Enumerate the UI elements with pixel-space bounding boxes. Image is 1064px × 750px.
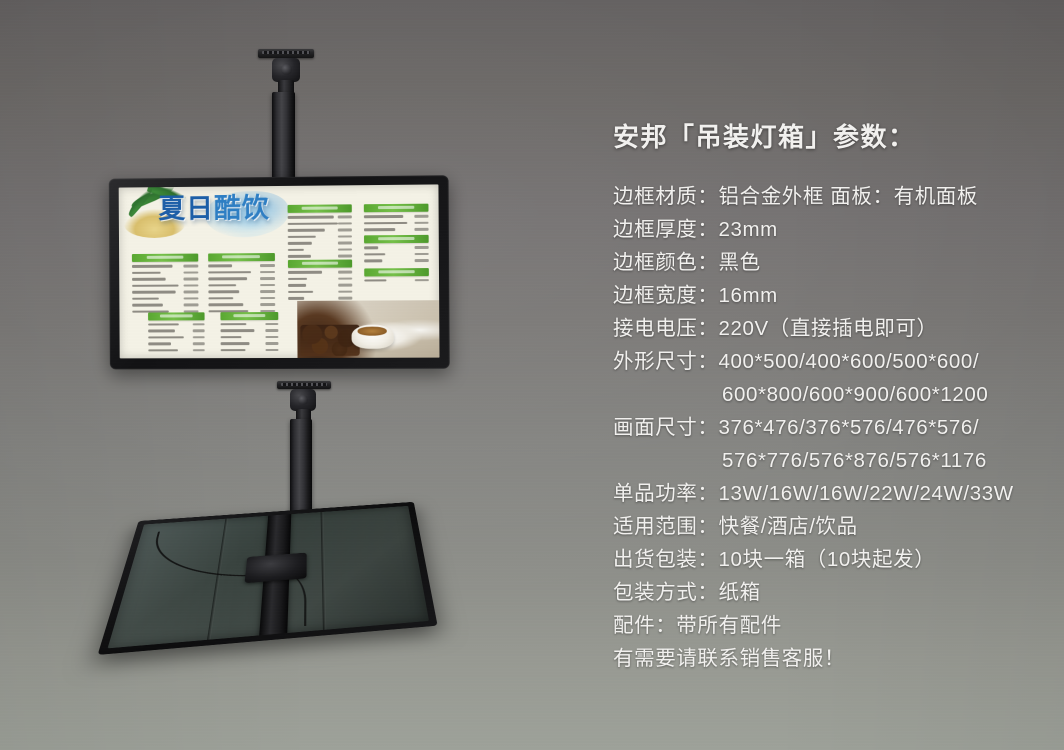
menu-section-rows xyxy=(287,214,351,259)
menu-section xyxy=(132,254,199,316)
menu-item-row xyxy=(221,348,278,353)
menu-item-row xyxy=(132,283,199,288)
menu-section-rows xyxy=(364,245,429,264)
menu-item-row xyxy=(132,264,199,269)
menu-section-rows xyxy=(148,322,205,353)
menu-item-row xyxy=(365,278,430,283)
menu-section-rows xyxy=(132,264,199,315)
menu-section-rows xyxy=(208,263,275,314)
menu-section-header xyxy=(365,268,430,276)
menu-item-row xyxy=(208,289,275,294)
menu-item-row xyxy=(148,341,205,346)
menu-section-header xyxy=(208,253,275,261)
menu-item-row xyxy=(288,269,352,274)
menu-item-row xyxy=(287,214,351,220)
menu-item-row xyxy=(132,277,199,282)
menu-item-row xyxy=(221,322,278,327)
menu-item-row xyxy=(148,348,205,353)
spec-line: 600*800/600*900/600*1200 xyxy=(613,378,1043,411)
spec-line: 出货包装：10块一箱（10块起发） xyxy=(613,543,1043,576)
coffee-photo xyxy=(297,300,439,357)
menu-section-rows xyxy=(221,322,279,353)
menu-item-row xyxy=(148,328,205,333)
ceiling-plate-holes-upper xyxy=(262,51,310,54)
ceiling-plate-holes-lower xyxy=(281,383,327,386)
menu-item-row xyxy=(288,289,352,294)
spec-line: 边框厚度：23mm xyxy=(613,213,1043,246)
menu-item-row xyxy=(288,283,352,288)
spec-line: 有需要请联系销售客服！ xyxy=(613,642,1043,675)
menu-section-rows xyxy=(364,214,429,233)
menu-item-row xyxy=(364,227,429,233)
coffee-cup-image xyxy=(351,325,394,349)
spec-line: 边框颜色：黑色 xyxy=(613,246,1043,279)
menu-item-row xyxy=(364,214,429,220)
lightbox-rear-backplate xyxy=(108,506,429,648)
spec-line-list: 边框材质：铝合金外框 面板：有机面板边框厚度：23mm边框颜色：黑色边框宽度：1… xyxy=(613,180,1043,675)
menu-item-row xyxy=(287,253,351,258)
menu-section-header xyxy=(364,204,429,213)
ceiling-plate-lower xyxy=(277,381,331,389)
spec-line: 单品功率：13W/16W/16W/22W/24W/33W xyxy=(613,477,1043,510)
menu-item-row xyxy=(208,296,275,301)
ceiling-plate-upper xyxy=(258,49,314,58)
spec-text-block: 安邦「吊装灯箱」参数： 边框材质：铝合金外框 面板：有机面板边框厚度：23mm边… xyxy=(613,124,1043,675)
mounting-bracket xyxy=(245,553,307,584)
menu-section-header xyxy=(288,259,352,267)
spec-line: 边框材质：铝合金外框 面板：有机面板 xyxy=(613,180,1043,213)
spec-line: 576*776/576*876/576*1176 xyxy=(613,444,1043,477)
swivel-bolt-lower xyxy=(298,395,308,405)
spec-line: 适用范围：快餐/酒店/饮品 xyxy=(613,510,1043,543)
menu-section xyxy=(364,235,429,265)
spec-line: 接电电压：220V（直接插电即可） xyxy=(613,312,1043,345)
spec-title: 安邦「吊装灯箱」参数： xyxy=(613,124,1043,150)
menu-item-row xyxy=(288,276,352,281)
menu-item-row xyxy=(208,263,275,268)
menu-hero-artwork: 夏日酷饮 xyxy=(119,186,301,249)
menu-item-row xyxy=(287,247,351,252)
lightbox-rear xyxy=(98,502,438,655)
menu-item-row xyxy=(208,270,275,275)
menu-section-header xyxy=(287,204,351,213)
swivel-bolt-upper xyxy=(281,64,292,75)
menu-item-row xyxy=(364,245,429,250)
menu-section xyxy=(365,268,430,285)
menu-item-row xyxy=(221,341,278,346)
menu-section-header xyxy=(132,254,199,262)
menu-item-row xyxy=(132,290,199,295)
spec-line: 包装方式：纸箱 xyxy=(613,576,1043,609)
menu-section-rows xyxy=(365,278,430,283)
spec-line: 配件：带所有配件 xyxy=(613,609,1043,642)
menu-hero-title-main: 夏日 xyxy=(158,193,214,223)
menu-item-row xyxy=(208,276,275,281)
spec-line: 画面尺寸：376*476/376*576/476*576/ xyxy=(613,411,1043,444)
menu-item-row xyxy=(221,335,278,340)
menu-section xyxy=(288,259,352,302)
lightbox-front: 夏日酷饮 xyxy=(109,175,450,369)
menu-item-row xyxy=(132,296,199,301)
menu-section-header xyxy=(364,235,429,244)
menu-item-row xyxy=(221,328,278,333)
menu-section-rows xyxy=(288,269,352,300)
mount-pole-upper xyxy=(272,92,295,187)
menu-section xyxy=(287,204,352,260)
menu-item-row xyxy=(364,220,429,226)
menu-hero-title: 夏日酷饮 xyxy=(158,195,269,223)
menu-section-header xyxy=(221,312,278,320)
menu-hero-title-accent: 酷饮 xyxy=(214,193,270,223)
menu-panel: 夏日酷饮 xyxy=(119,184,440,358)
menu-item-row xyxy=(148,322,205,327)
menu-item-row xyxy=(287,234,351,239)
backplate-seam xyxy=(320,512,326,630)
menu-section xyxy=(148,312,205,355)
menu-section xyxy=(364,204,429,234)
menu-item-row xyxy=(132,302,199,307)
menu-item-row xyxy=(365,258,430,263)
spec-line: 边框宽度：16mm xyxy=(613,279,1043,312)
menu-item-row xyxy=(208,302,275,307)
menu-item-row xyxy=(208,283,275,288)
menu-section-header xyxy=(148,312,205,320)
menu-item-row xyxy=(287,240,351,245)
menu-section xyxy=(208,253,275,315)
lightbox-rear-frame xyxy=(98,502,438,655)
menu-item-row xyxy=(132,270,199,275)
product-photo-stage: 夏日酷饮 xyxy=(0,0,1064,750)
menu-item-row xyxy=(365,251,430,256)
menu-item-row xyxy=(148,335,205,340)
spec-line: 外形尺寸：400*500/400*600/500*600/ xyxy=(613,345,1043,378)
menu-section xyxy=(221,312,279,355)
menu-item-row xyxy=(287,221,351,227)
menu-item-row xyxy=(287,227,351,233)
